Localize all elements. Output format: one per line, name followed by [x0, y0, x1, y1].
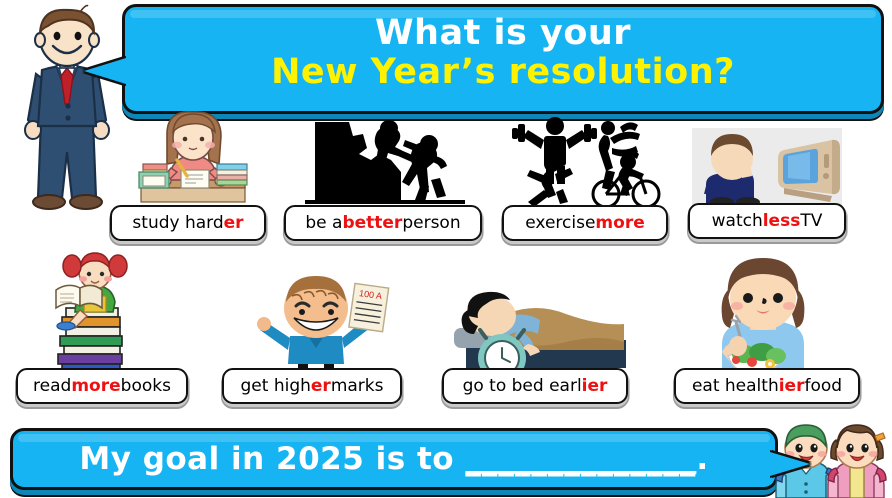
goal-sentence-banner: My goal in 2025 is to ______________. — [10, 428, 778, 490]
goal-sentence-text: My goal in 2025 is to ______________. — [13, 431, 775, 476]
title-line-2: New Year’s resolution? — [125, 52, 881, 91]
girl-studying-at-desk-icon — [133, 112, 253, 208]
label-highlight: better — [342, 213, 402, 233]
goal-bubble-tail — [770, 452, 810, 476]
girl-on-book-stack-icon — [36, 252, 154, 374]
goal-period: . — [696, 441, 708, 477]
label-text: exercise — [525, 213, 595, 233]
climbers-helping-silhouette-icon — [305, 114, 465, 208]
label-get-higher-marks[interactable]: get higher marks — [222, 368, 402, 404]
title-line-1: What is your — [125, 7, 881, 52]
label-study-harder[interactable]: study harder — [110, 205, 266, 241]
label-highlight: less — [763, 211, 801, 231]
label-text: be a — [305, 213, 342, 233]
label-eat-healthier-food[interactable]: eat healthier food — [674, 368, 860, 404]
label-read-more-books[interactable]: read more books — [16, 368, 188, 404]
label-text: eat health — [692, 376, 779, 396]
speech-bubble-tail — [84, 58, 126, 84]
label-text: person — [402, 213, 460, 233]
man-in-suit-icon — [8, 2, 126, 220]
label-highlight: er — [224, 213, 244, 233]
label-text: watch — [712, 211, 763, 231]
worksheet-canvas: What is your New Year’s resolution? — [0, 0, 892, 498]
label-highlight: more — [595, 213, 644, 233]
label-be-better-person[interactable]: be a better person — [284, 205, 482, 241]
label-highlight: ier — [779, 376, 805, 396]
label-text: read — [33, 376, 71, 396]
boy-with-test-paper-icon: 100 A — [252, 272, 392, 376]
woman-eating-salad-icon — [696, 256, 830, 374]
label-text: TV — [800, 211, 822, 231]
label-highlight: ier — [582, 376, 608, 396]
label-highlight: more — [71, 376, 120, 396]
goal-prefix: My goal in 2025 is to — [79, 441, 465, 477]
label-go-to-bed-earlier[interactable]: go to bed earlier — [442, 368, 628, 404]
label-text: food — [804, 376, 842, 396]
label-text: books — [121, 376, 171, 396]
person-sleeping-in-bed-icon — [444, 278, 630, 374]
label-watch-less-tv[interactable]: watch less TV — [688, 203, 846, 239]
title-speech-bubble: What is your New Year’s resolution? — [122, 4, 884, 114]
label-text: go to bed earl — [463, 376, 582, 396]
label-text: marks — [331, 376, 384, 396]
label-exercise-more[interactable]: exercise more — [502, 205, 668, 241]
goal-blank-line[interactable]: ______________ — [465, 441, 696, 477]
label-text: study hard — [132, 213, 223, 233]
label-highlight: er — [311, 376, 331, 396]
label-text: get high — [241, 376, 311, 396]
boy-watching-tv-icon — [692, 128, 842, 206]
exercise-pictograms-icon — [500, 112, 660, 208]
